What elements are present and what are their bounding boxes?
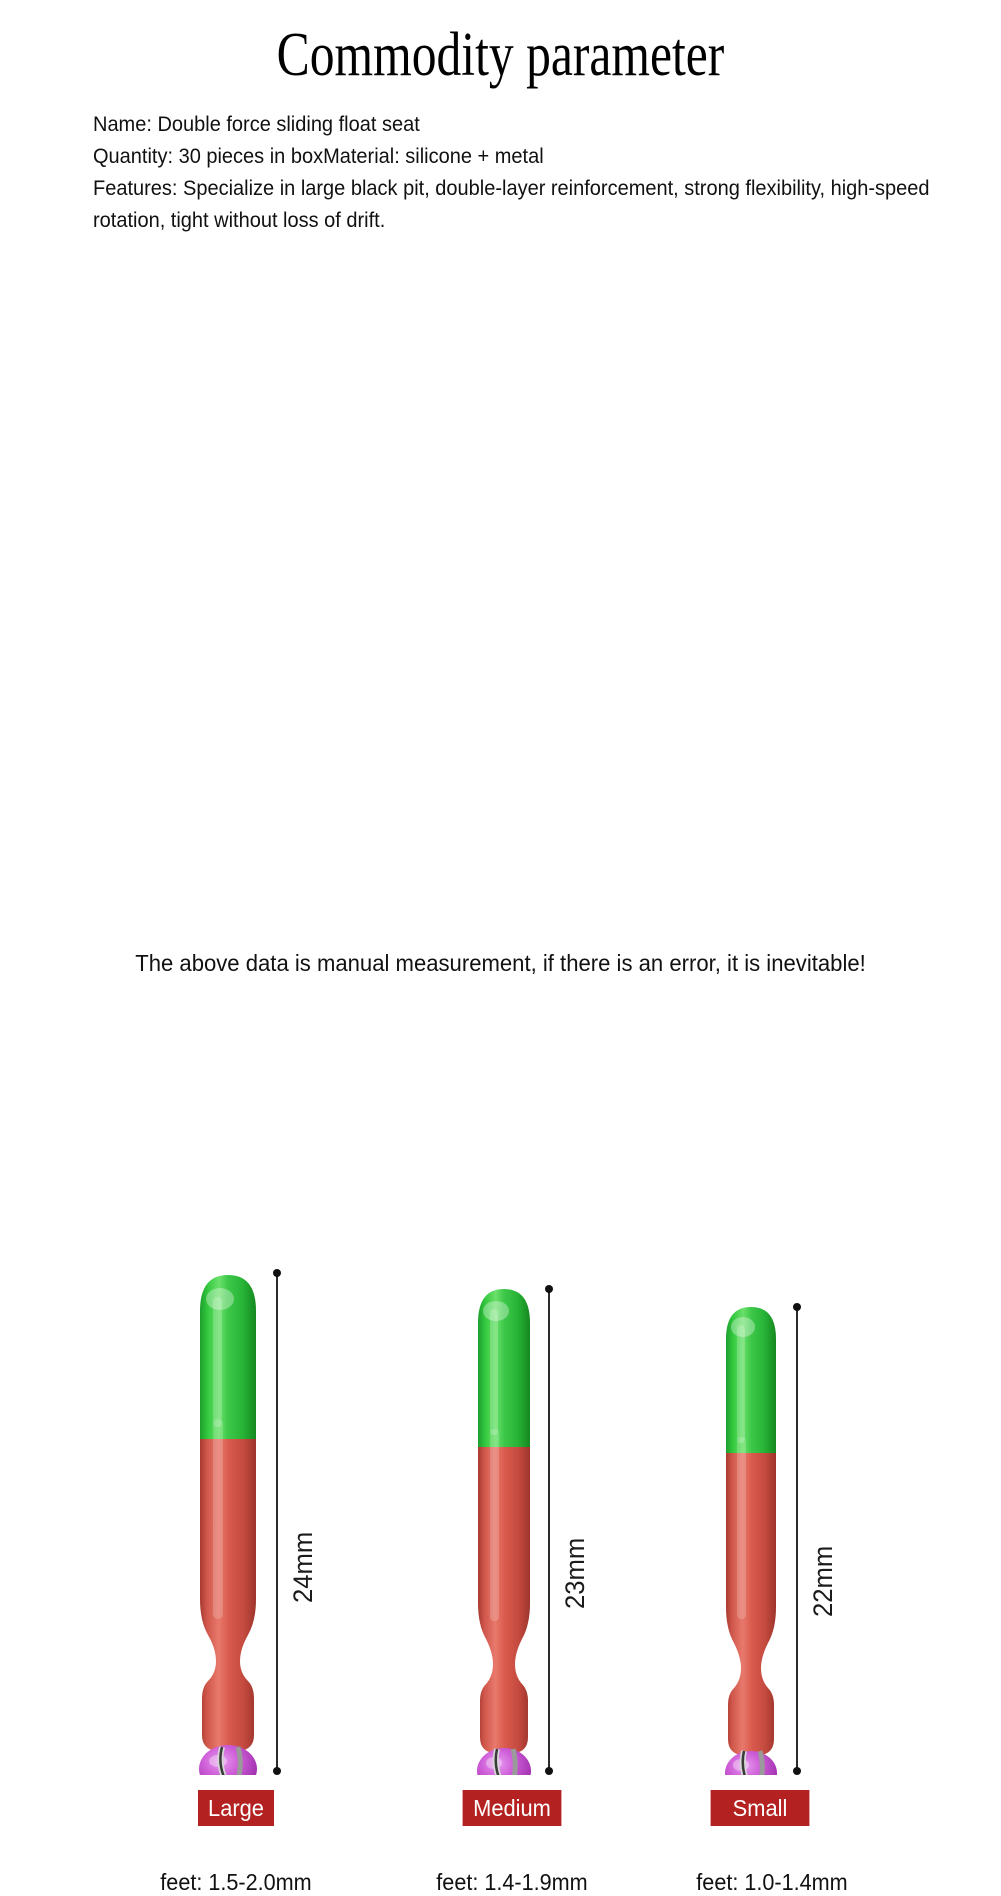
feet-label-large: feet: 1.5-2.0mm: [135, 1869, 337, 1896]
dimension-rule: [276, 1273, 278, 1771]
feet-label-small: feet: 1.0-1.4mm: [671, 1869, 873, 1896]
feet-label-medium: feet: 1.4-1.9mm: [411, 1869, 613, 1896]
product-comparison-row: 24mm Large feet: 1.5-2.0mm: [0, 0, 1001, 1001]
dimension-label-medium: 23mm: [560, 1538, 591, 1609]
size-badge-large: Large: [198, 1790, 274, 1826]
dimension-dot-bottom: [793, 1767, 801, 1775]
size-badge-medium: Medium: [463, 1790, 562, 1826]
dimension-dot-top: [273, 1269, 281, 1277]
dimension-label-large: 24mm: [288, 1532, 319, 1603]
dimension-rule: [548, 1289, 550, 1771]
dimension-label-small: 22mm: [808, 1546, 839, 1617]
dimension-dot-bottom: [545, 1767, 553, 1775]
dimension-dot-top: [545, 1285, 553, 1293]
float-seat-illustration-medium: [464, 1283, 556, 1775]
dimension-dot-top: [793, 1303, 801, 1311]
footer-disclaimer: The above data is manual measurement, if…: [30, 950, 971, 977]
dimension-dot-bottom: [273, 1767, 281, 1775]
float-seat-illustration-large: [186, 1269, 282, 1775]
dimension-rule: [796, 1307, 798, 1771]
float-seat-illustration-small: [712, 1301, 800, 1775]
size-badge-small: Small: [711, 1790, 810, 1826]
